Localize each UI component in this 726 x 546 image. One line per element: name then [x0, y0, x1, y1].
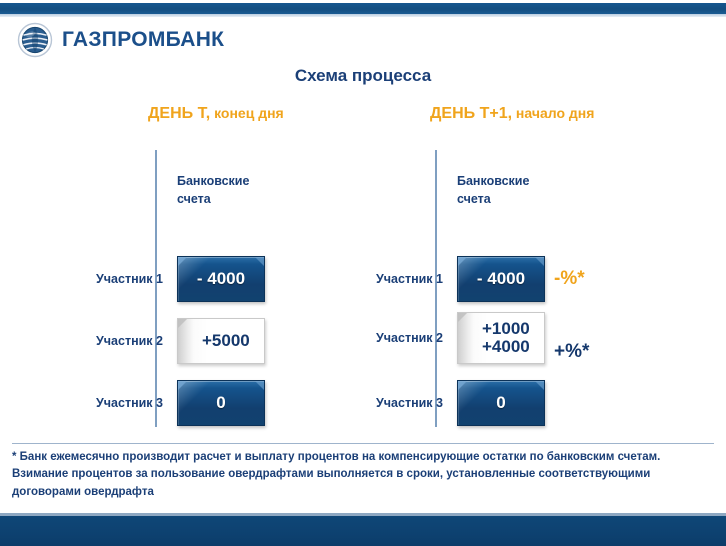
amount-box-participant-1[interactable]: - 4000 [457, 256, 545, 302]
amount-box-participant-3[interactable]: 0 [457, 380, 545, 426]
day-label-t1: ДЕНЬ Т+1, начало дня [430, 105, 594, 123]
table-row: Участник 2 +1000 +4000 +%* [457, 315, 589, 361]
day-label-t-tail: конец дня [210, 105, 284, 121]
gazprombank-globe-logo-icon [17, 22, 53, 58]
row-label-participant-2: Участник 2 [376, 331, 443, 345]
day-label-t: ДЕНЬ Т, конец дня [148, 105, 284, 123]
amount-value-secondary: +4000 [482, 338, 530, 356]
amount-value: 0 [216, 394, 225, 412]
table-row: Участник 3 0 [177, 380, 265, 426]
amount-box-participant-2[interactable]: +1000 +4000 [457, 312, 545, 364]
footnote-divider [12, 443, 714, 444]
top-decoration-band [0, 3, 726, 14]
amount-value: +1000 [482, 320, 530, 338]
column-divider-line [155, 150, 157, 427]
amount-value: +5000 [202, 332, 250, 350]
table-row: Участник 1 - 4000 [177, 256, 265, 302]
row-label-participant-3: Участник 3 [96, 396, 163, 410]
row-label-participant-1: Участник 1 [376, 272, 443, 286]
day-label-t1-lead: ДЕНЬ Т+1, [430, 105, 512, 122]
table-row: Участник 3 0 [457, 380, 545, 426]
amount-value: - 4000 [197, 270, 245, 288]
amount-value: - 4000 [477, 270, 525, 288]
table-row: Участник 2 +5000 [177, 318, 265, 364]
amount-box-participant-3[interactable]: 0 [177, 380, 265, 426]
row-label-participant-2: Участник 2 [96, 334, 163, 348]
bottom-decoration-band [0, 516, 726, 546]
day-label-t1-tail: начало дня [512, 105, 594, 121]
annotation-interest-credit: +%* [554, 341, 589, 363]
top-hairline [0, 14, 726, 17]
table-row: Участник 1 - 4000 -%* [457, 256, 585, 302]
annotation-interest-debit: -%* [554, 268, 585, 290]
brand-name: ГАЗПРОМБАНК [62, 28, 224, 52]
footnote-text: * Банк ежемесячно производит расчет и вы… [12, 449, 718, 501]
slide: ГАЗПРОМБАНК Схема процесса ДЕНЬ Т, конец… [0, 0, 726, 546]
column-heading-accounts: Банковские счета [457, 172, 529, 208]
column-divider-line [435, 150, 437, 427]
brand-logo: ГАЗПРОМБАНК [17, 22, 224, 58]
page-title: Схема процесса [0, 66, 726, 86]
amount-value: 0 [496, 394, 505, 412]
row-label-participant-3: Участник 3 [376, 396, 443, 410]
amount-box-participant-1[interactable]: - 4000 [177, 256, 265, 302]
row-label-participant-1: Участник 1 [96, 272, 163, 286]
amount-box-participant-2[interactable]: +5000 [177, 318, 265, 364]
day-label-t-lead: ДЕНЬ Т, [148, 105, 210, 122]
column-heading-accounts: Банковские счета [177, 172, 249, 208]
